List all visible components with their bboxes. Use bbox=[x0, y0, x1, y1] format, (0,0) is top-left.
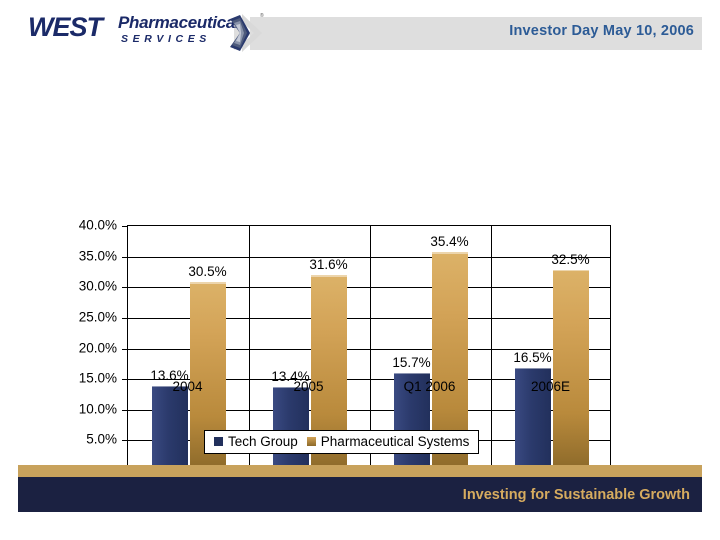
logo-word-services: SERVICES bbox=[121, 34, 211, 45]
y-axis-tick-label: 30.0% bbox=[79, 279, 117, 294]
bar-value-label: 32.5% bbox=[551, 252, 589, 267]
x-axis-category-label: 2004 bbox=[172, 379, 202, 394]
y-axis-tick-label: 10.0% bbox=[79, 401, 117, 416]
legend-label: Pharmaceutical Systems bbox=[321, 434, 470, 449]
y-axis-tick bbox=[122, 257, 128, 258]
y-axis-tick-label: 20.0% bbox=[79, 340, 117, 355]
bar-pharmaceutical-systems-2006e bbox=[553, 270, 589, 469]
legend-item[interactable]: Tech Group bbox=[214, 434, 298, 449]
bar-value-label: 35.4% bbox=[430, 234, 468, 249]
bar-highlight bbox=[515, 368, 551, 370]
y-axis-tick-label: 35.0% bbox=[79, 248, 117, 263]
y-axis-tick bbox=[122, 410, 128, 411]
registered-trademark-icon: ® bbox=[260, 13, 264, 19]
x-axis-category-label: 2005 bbox=[293, 379, 323, 394]
y-axis-tick bbox=[122, 287, 128, 288]
footer-tagline: Investing for Sustainable Growth bbox=[463, 487, 690, 503]
chart-legend: Tech GroupPharmaceutical Systems bbox=[204, 430, 479, 454]
diamond-chevron-icon bbox=[224, 14, 266, 52]
bar-highlight bbox=[311, 275, 347, 277]
y-axis-tick bbox=[122, 440, 128, 441]
bar-value-label: 30.5% bbox=[188, 264, 226, 279]
x-axis-category-label: Q1 2006 bbox=[404, 379, 456, 394]
x-axis-category-labels: 20042005Q1 20062006E bbox=[0, 379, 720, 403]
slide-header: WEST Pharmaceutical SERVICES ® Investor … bbox=[0, 0, 720, 62]
bar-value-label: 15.7% bbox=[392, 355, 430, 370]
slide-footer: Investing for Sustainable Growth bbox=[18, 465, 702, 512]
y-axis-tick-label: 5.0% bbox=[86, 432, 117, 447]
bar-chart: 40.0%35.0%30.0%25.0%20.0%15.0%10.0%5.0%0… bbox=[0, 92, 720, 452]
footer-gold-bar bbox=[18, 465, 702, 477]
gridline bbox=[128, 257, 610, 258]
y-axis-tick bbox=[122, 318, 128, 319]
y-axis-tick-labels: 40.0%35.0%30.0%25.0%20.0%15.0%10.0%5.0%0… bbox=[0, 184, 125, 484]
bar-highlight bbox=[394, 373, 430, 375]
y-axis-tick-label: 25.0% bbox=[79, 309, 117, 324]
bar-value-label: 31.6% bbox=[309, 257, 347, 272]
legend-label: Tech Group bbox=[228, 434, 298, 449]
y-axis-tick bbox=[122, 226, 128, 227]
y-axis-tick-label: 40.0% bbox=[79, 218, 117, 233]
legend-swatch-icon bbox=[214, 437, 223, 446]
bar-value-label: 16.5% bbox=[513, 350, 551, 365]
category-separator bbox=[491, 226, 492, 469]
bar-highlight bbox=[432, 252, 468, 254]
page-title: Investor Day May 10, 2006 bbox=[509, 23, 694, 39]
x-axis-category-label: 2006E bbox=[531, 379, 570, 394]
logo-word-pharmaceutical: Pharmaceutical bbox=[118, 14, 239, 31]
bar-highlight bbox=[553, 270, 589, 272]
west-pharmaceutical-services-logo: WEST Pharmaceutical SERVICES ® bbox=[28, 13, 268, 53]
logo-word-west: WEST bbox=[28, 14, 102, 41]
legend-item[interactable]: Pharmaceutical Systems bbox=[307, 434, 470, 449]
y-axis-tick bbox=[122, 349, 128, 350]
bar-highlight bbox=[190, 282, 226, 284]
legend-swatch-icon bbox=[307, 437, 316, 446]
